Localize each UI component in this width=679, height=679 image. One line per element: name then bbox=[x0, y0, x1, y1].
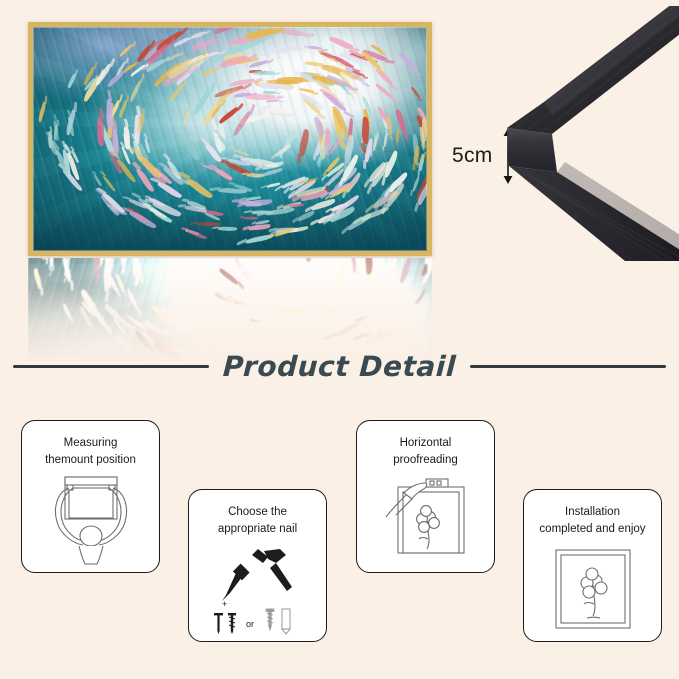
hand-with-spirit-level-icon bbox=[376, 477, 476, 563]
step-card-title: Choose the appropriate nail bbox=[208, 490, 307, 537]
painting-canvas bbox=[33, 27, 427, 251]
framed-artwork bbox=[28, 22, 432, 256]
step-card-illustration bbox=[524, 537, 661, 641]
page-title: Product Detail bbox=[222, 350, 457, 383]
step-card-choose-nail[interactable]: Choose the appropriate nail + bbox=[188, 489, 327, 642]
step-card-title: Installation completed and enjoy bbox=[529, 490, 655, 537]
step-card-title: Horizontal proofreading bbox=[383, 421, 468, 468]
plus-sign: + bbox=[222, 599, 227, 609]
hero-section: 5cm bbox=[0, 0, 679, 340]
person-holding-frame-icon bbox=[43, 474, 139, 566]
step-card-title: Measuring themount position bbox=[35, 421, 146, 468]
gold-frame bbox=[28, 22, 432, 256]
step-card-measuring[interactable]: Measuring themount position bbox=[21, 420, 160, 573]
or-label: or bbox=[246, 619, 254, 629]
divider-left bbox=[13, 365, 209, 368]
framed-flower-picture-icon bbox=[551, 546, 635, 632]
product-detail-page: 5cm bbox=[0, 0, 679, 679]
frame-depth-label: 5cm bbox=[452, 144, 493, 168]
section-heading: Product Detail bbox=[0, 346, 679, 386]
step-card-installation-complete[interactable]: Installation completed and enjoy bbox=[523, 489, 662, 642]
step-card-horizontal-proofreading[interactable]: Horizontal proofreading bbox=[356, 420, 495, 573]
divider-right bbox=[470, 365, 666, 368]
black-wood-frame-corner bbox=[495, 6, 679, 261]
hammer-and-nail-icon: + or bbox=[206, 543, 310, 635]
step-card-illustration: + or bbox=[189, 537, 326, 641]
step-card-illustration bbox=[22, 468, 159, 572]
step-card-illustration bbox=[357, 468, 494, 572]
